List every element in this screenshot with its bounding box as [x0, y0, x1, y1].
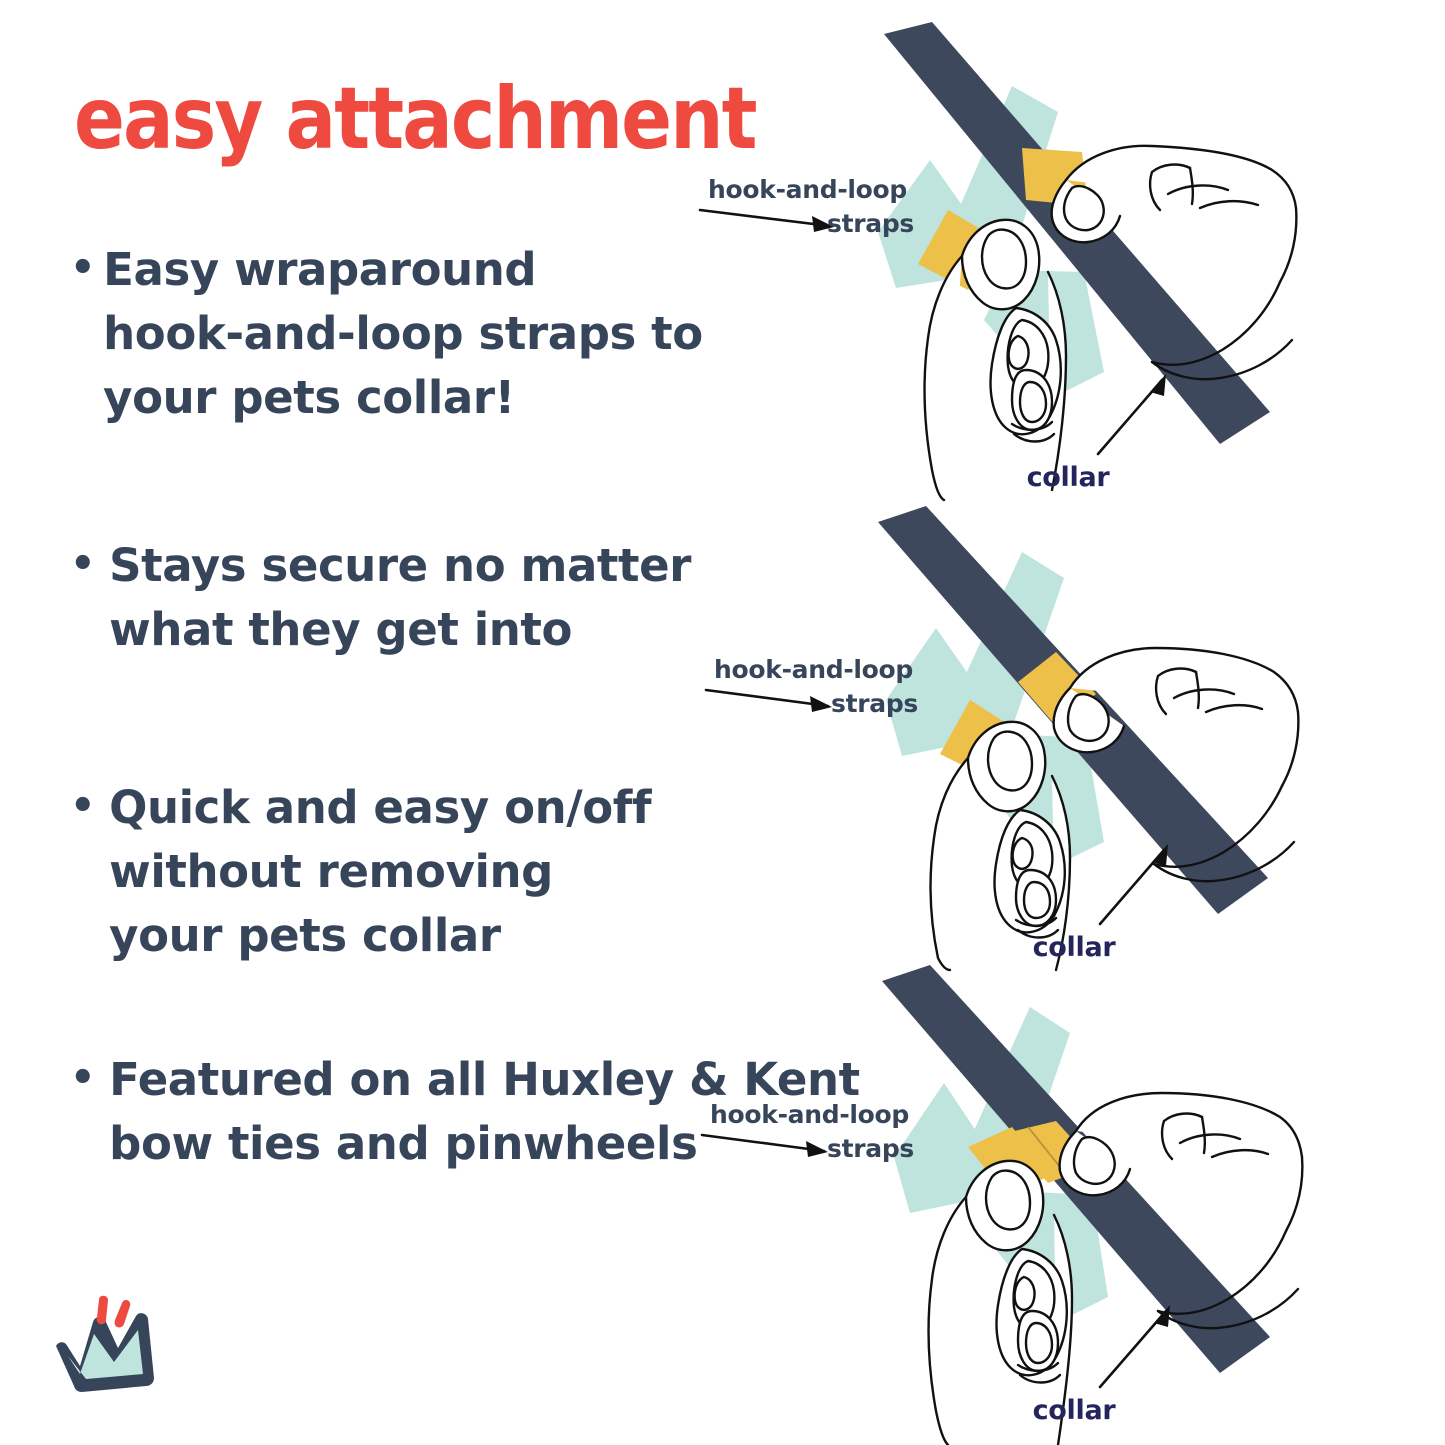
list-item: • Stays secure no matter what they get i… — [70, 534, 770, 662]
label-collar: collar — [1033, 1395, 1117, 1426]
collar-pointer-arrow — [1100, 844, 1168, 924]
label-hook-and-loop-straps-line1: hook-and-loop — [710, 1100, 909, 1129]
bullet-marker-icon: • — [70, 534, 95, 595]
label-hook-and-loop-straps-line1: hook-and-loop — [714, 655, 913, 684]
list-item-text: Easy wraparound hook-and-loop straps to … — [103, 238, 750, 430]
illustration-step-3: hook-and-loop straps collar — [700, 975, 1300, 1445]
crown-logo — [46, 1278, 196, 1428]
bullet-marker-icon: • — [70, 1048, 95, 1109]
collar-pointer-arrow — [1098, 374, 1166, 454]
illustration-step-2: hook-and-loop straps collar — [700, 500, 1300, 970]
label-hook-and-loop-straps-line1: hook-and-loop — [708, 175, 907, 204]
label-hook-and-loop-straps-line2: straps — [827, 1134, 914, 1163]
list-item: • Easy wraparound hook-and-loop straps t… — [70, 238, 750, 430]
bullet-marker-icon: • — [70, 238, 95, 299]
list-item-text: Stays secure no matter what they get int… — [103, 534, 770, 662]
page-title: easy attachment — [74, 76, 756, 162]
sparkle-right-icon — [115, 1300, 131, 1327]
label-collar: collar — [1027, 462, 1111, 493]
sparkle-left-icon — [97, 1296, 108, 1325]
collar-pointer-arrow — [1100, 1305, 1170, 1387]
straps-pointer-arrow — [706, 690, 832, 712]
bullet-marker-icon: • — [70, 776, 95, 837]
straps-pointer-arrow — [702, 1135, 828, 1157]
infographic-page: easy attachment • Easy wraparound hook-a… — [0, 0, 1445, 1445]
label-hook-and-loop-straps-line2: straps — [827, 209, 914, 238]
label-hook-and-loop-straps-line2: straps — [831, 689, 918, 718]
illustration-step-1: hook-and-loop straps collar — [700, 20, 1300, 500]
label-collar: collar — [1033, 932, 1117, 963]
list-item-text: Quick and easy on/off without removing y… — [103, 776, 770, 968]
straps-pointer-arrow — [700, 210, 834, 232]
list-item: • Quick and easy on/off without removing… — [70, 776, 770, 968]
